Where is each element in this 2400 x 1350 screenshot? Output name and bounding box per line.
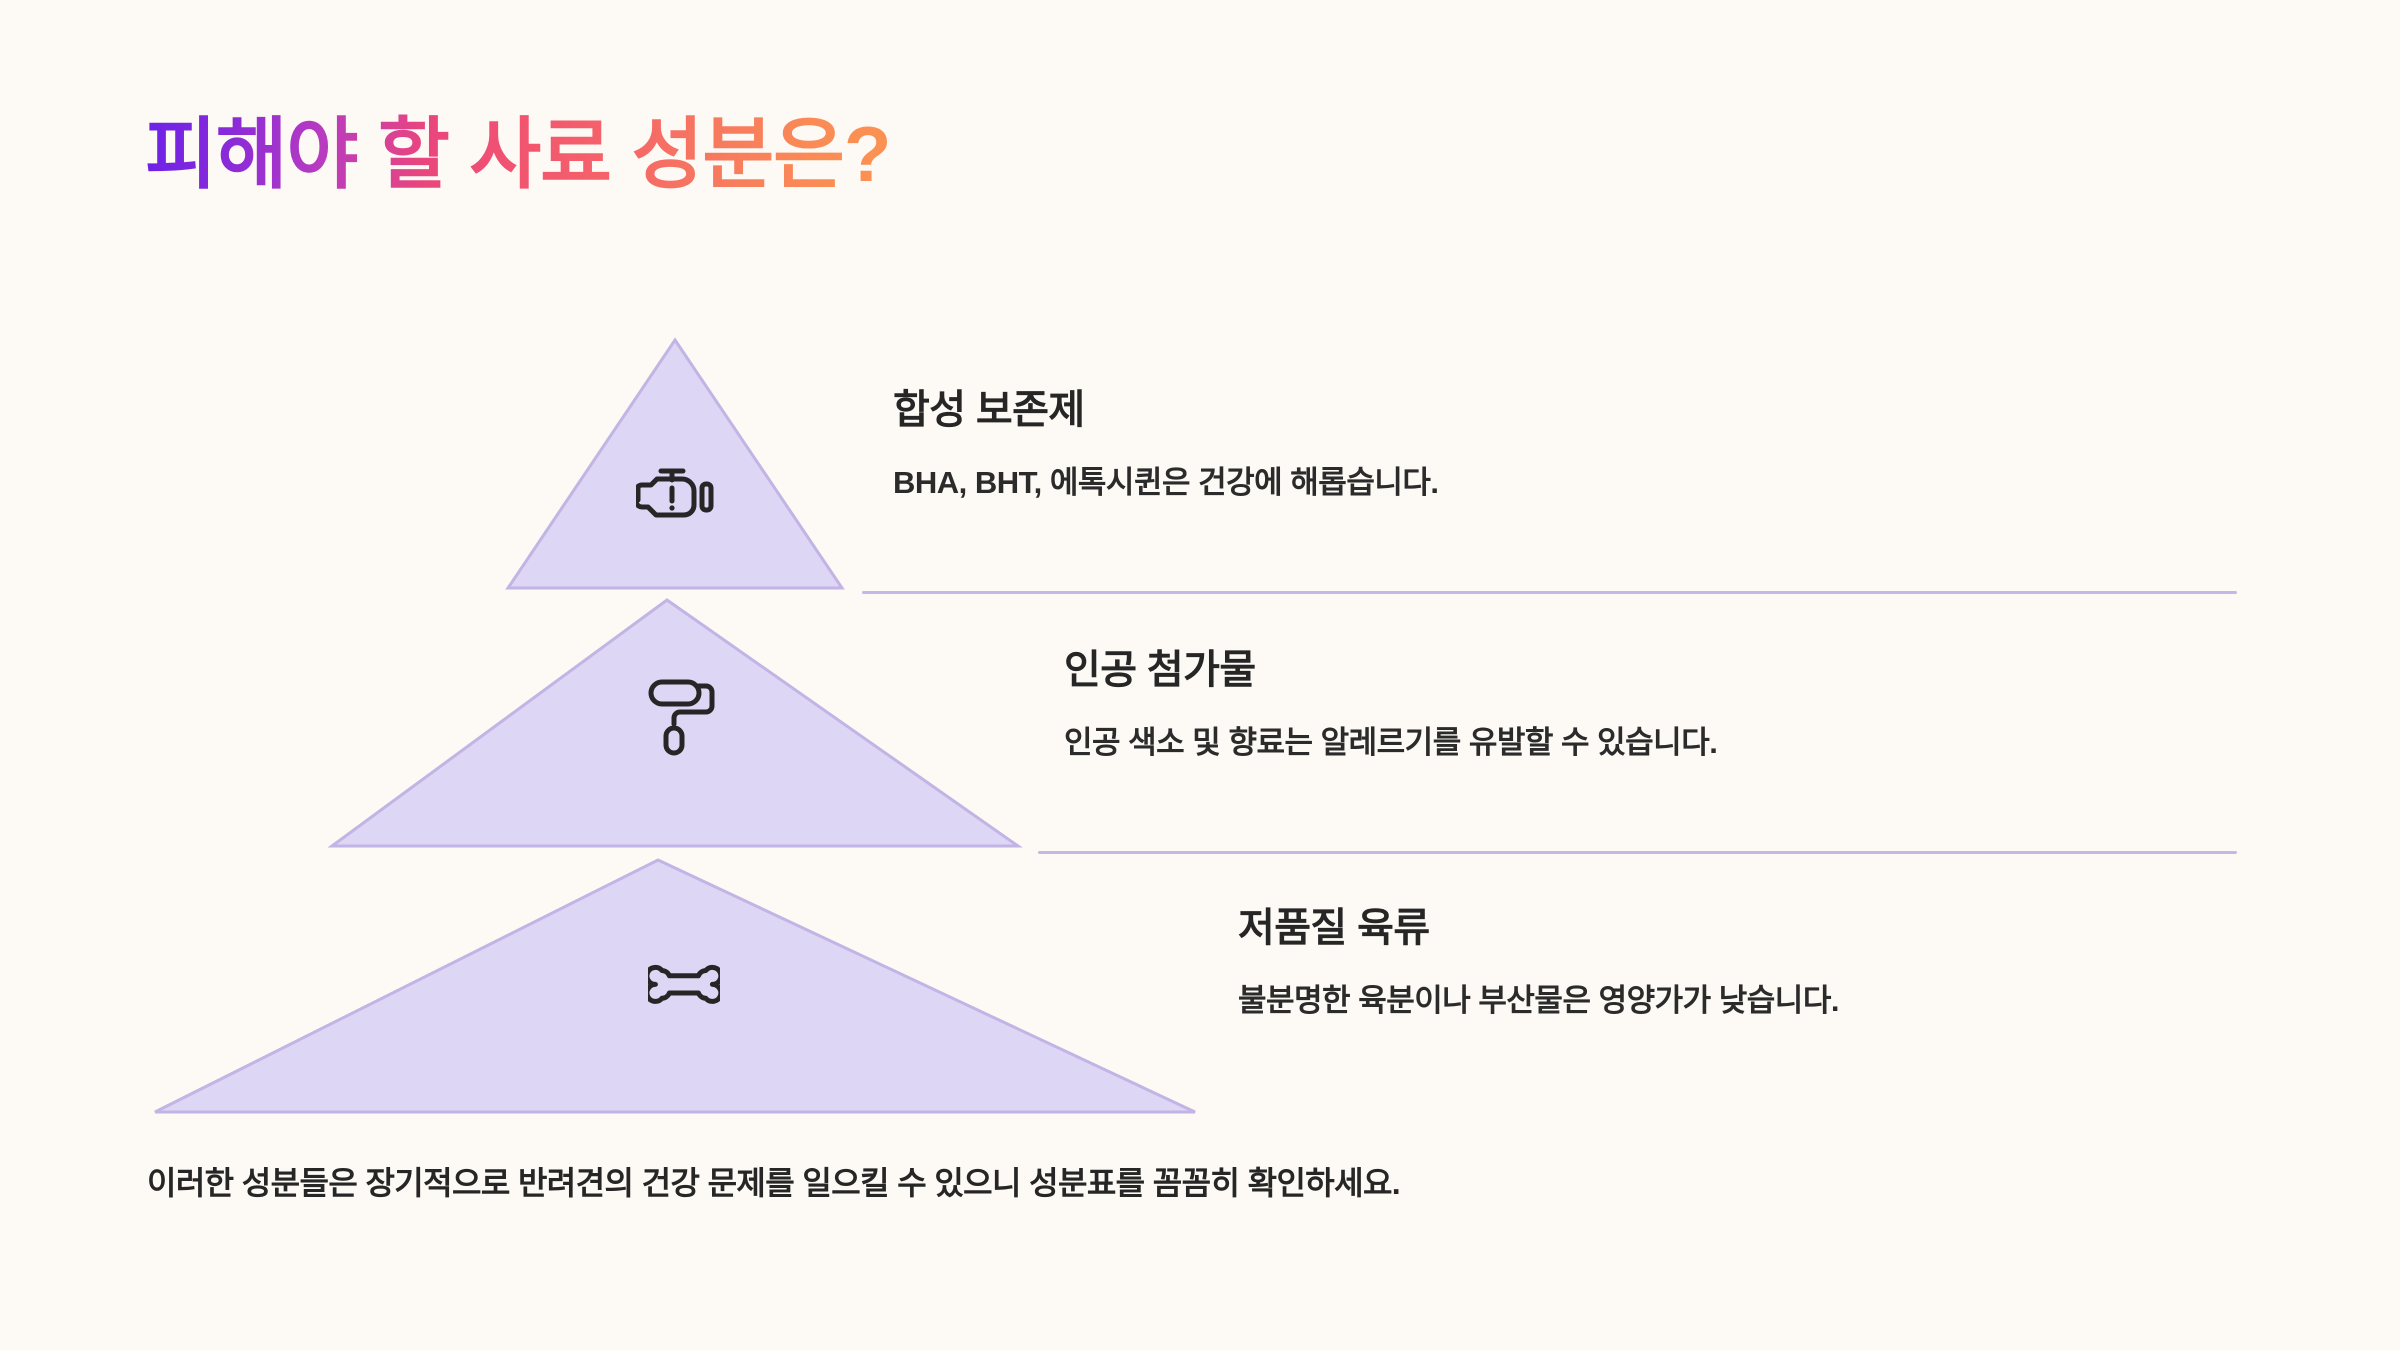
paint-roller-icon (648, 672, 718, 756)
infographic-canvas: 피해야 할 사료 성분은? (0, 0, 2400, 1350)
row-3-title: 저품질 육류 (1238, 903, 1839, 953)
pyramid-tier-top (508, 340, 842, 588)
footer-note: 이러한 성분들은 장기적으로 반려견의 건강 문제를 일으킬 수 있으니 성분표… (147, 1158, 1400, 1204)
divider-row-2 (1038, 851, 2237, 854)
row-1-description: BHA, BHT, 에톡시퀸은 건강에 해롭습니다. (893, 461, 1439, 504)
row-1-title: 합성 보존제 (893, 385, 1439, 435)
content-row-3: 저품질 육류 불분명한 육분이나 부산물은 영양가가 낮습니다. (1238, 903, 1839, 1022)
content-row-2: 인공 첨가물 인공 색소 및 향료는 알레르기를 유발할 수 있습니다. (1064, 645, 1717, 764)
row-3-description-rest: 불분명한 육분이나 부산물은 영양가가 낮습니다. (1238, 983, 1839, 1018)
row-3-description: 불분명한 육분이나 부산물은 영양가가 낮습니다. (1238, 979, 1839, 1022)
content-row-1: 합성 보존제 BHA, BHT, 에톡시퀸은 건강에 해롭습니다. (893, 385, 1439, 504)
check-engine-icon (636, 466, 714, 528)
dog-bone-icon (648, 962, 720, 1010)
row-1-description-lead: BHA, BHT, (893, 465, 1042, 500)
row-2-description-rest: 인공 색소 및 향료는 알레르기를 유발할 수 있습니다. (1064, 725, 1717, 760)
divider-row-1 (862, 591, 2237, 594)
row-2-description: 인공 색소 및 향료는 알레르기를 유발할 수 있습니다. (1064, 721, 1717, 764)
row-1-description-rest: 에톡시퀸은 건강에 해롭습니다. (1042, 465, 1439, 500)
row-2-title: 인공 첨가물 (1064, 645, 1717, 695)
page-title: 피해야 할 사료 성분은? (145, 112, 891, 196)
